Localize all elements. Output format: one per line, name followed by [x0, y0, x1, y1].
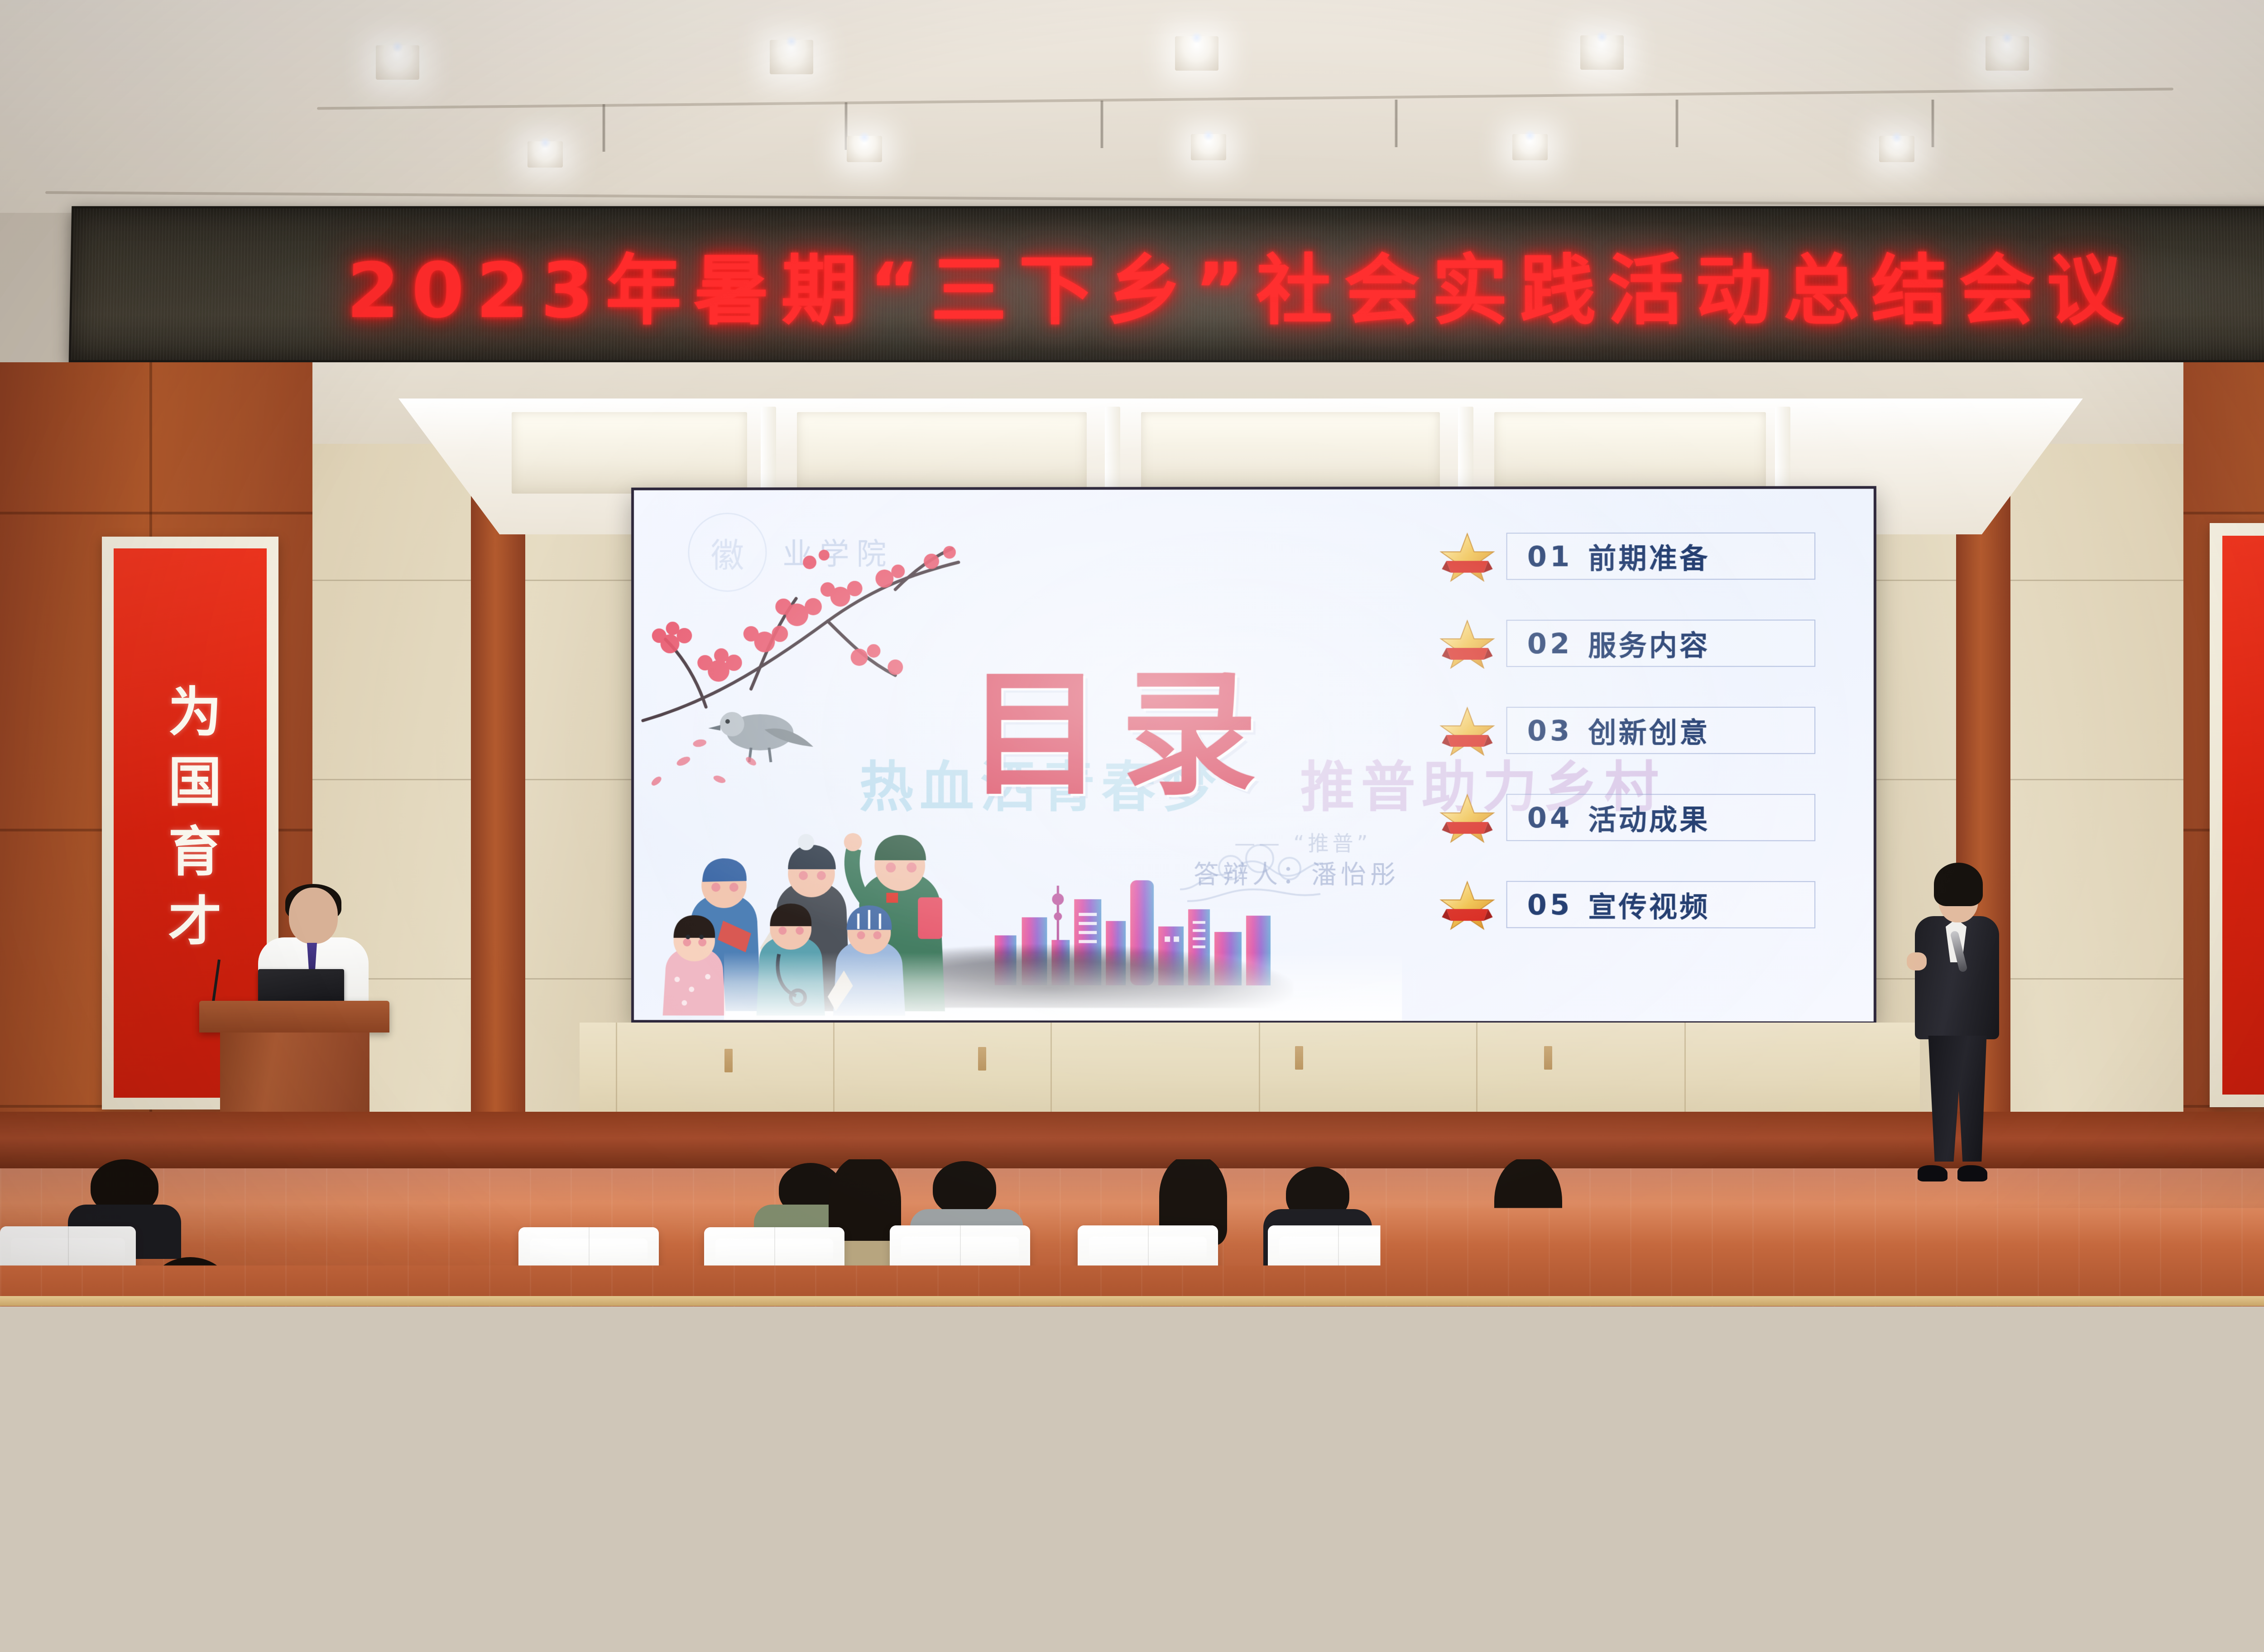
menu-item: 05 宣传视频 — [1438, 877, 1815, 932]
menu-item-number: 04 — [1527, 801, 1573, 834]
menu-item-box: 02 服务内容 — [1506, 619, 1816, 667]
menu-item-label: 创新创意 — [1588, 710, 1710, 751]
star-ribbon-icon — [1438, 879, 1496, 930]
stage-presenter — [1904, 863, 2008, 1184]
menu-item-label: 前期准备 — [1588, 536, 1710, 576]
audience-chair — [906, 1576, 1114, 1652]
audience-head — [430, 1531, 543, 1652]
mist-overlay — [724, 952, 1402, 1021]
menu-item: 01 前期准备 — [1438, 529, 1815, 584]
audience-head — [770, 1349, 851, 1420]
audience-head — [1363, 1340, 1444, 1458]
ceiling-spotlight — [1580, 35, 1624, 70]
audience-head — [18, 1540, 140, 1644]
audience-head — [149, 1426, 254, 1513]
ceiling-spotlight — [376, 45, 419, 80]
audience-head — [1820, 1344, 1902, 1466]
led-banner-text: 2023年暑期“三下乡”社会实践活动总结会议 — [346, 229, 2135, 339]
presentation-slide: 徽 业学院 — [634, 489, 1874, 1021]
star-ribbon-icon — [1438, 705, 1496, 756]
ceiling-spotlight — [847, 136, 882, 162]
presenter-hair — [1934, 863, 1983, 906]
audience-head — [1766, 1537, 1875, 1652]
ceiling-spotlight — [1175, 36, 1218, 71]
presenter-hand — [1907, 952, 1927, 970]
audience-head — [933, 1161, 996, 1215]
menu-item-label: 宣传视频 — [1588, 884, 1710, 925]
menu-item-box: 01 前期准备 — [1506, 533, 1816, 580]
menu-item-number: 01 — [1527, 540, 1573, 573]
audience-chair — [1893, 1580, 2101, 1652]
menu-item-box: 04 活动成果 — [1506, 794, 1816, 841]
audience-head — [335, 1266, 408, 1330]
audience-chair — [557, 1580, 752, 1652]
menu-item: 03 创新创意 — [1438, 703, 1815, 758]
left-banner-characters: 为国育才 — [162, 684, 218, 963]
bird-icon — [708, 712, 813, 762]
menu-item-number: 02 — [1527, 627, 1573, 660]
menu-item-number: 05 — [1527, 888, 1573, 921]
slide-contents-menu: 01 前期准备 02 服务内容 — [1438, 529, 1815, 965]
audience-seating — [0, 1159, 2264, 1652]
menu-item-number: 03 — [1527, 714, 1573, 747]
menu-item: 04 活动成果 — [1438, 790, 1815, 845]
led-scrolling-banner: 2023年暑期“三下乡”社会实践活动总结会议 — [69, 206, 2264, 362]
star-ribbon-icon — [1438, 531, 1496, 581]
audience-chair — [0, 1226, 136, 1344]
audience-chair — [1146, 1580, 1354, 1652]
audience-head — [996, 1422, 1094, 1506]
right-wall-banner: 为党育人 — [2210, 523, 2264, 1107]
star-ribbon-icon — [1438, 618, 1496, 669]
audience-head — [2029, 1431, 2119, 1567]
audience-head — [149, 1257, 231, 1325]
audience-head — [756, 1531, 869, 1635]
projection-screen: 徽 业学院 — [631, 486, 1876, 1024]
audience-head — [1114, 1340, 1195, 1455]
laptop — [258, 969, 344, 1004]
menu-item-label: 活动成果 — [1588, 797, 1710, 838]
audience-head — [1630, 1531, 1739, 1652]
audience-chair — [0, 1390, 158, 1535]
audience-head — [2164, 1531, 2264, 1652]
ceiling-spotlight — [770, 40, 813, 74]
menu-item-label: 服务内容 — [1588, 623, 1710, 663]
star-ribbon-icon — [1438, 792, 1496, 843]
audience-chair — [195, 1585, 403, 1652]
auditorium-photo: 2023年暑期“三下乡”社会实践活动总结会议 为国育才 为党育人 — [0, 0, 2264, 1652]
ceiling-spotlight — [1512, 134, 1548, 160]
slide-title: 目录 — [968, 666, 1275, 802]
ceiling-spotlight — [1879, 136, 1914, 162]
ceiling-spotlight — [528, 141, 563, 168]
ceiling — [0, 0, 2264, 213]
speaker-head — [289, 888, 338, 944]
ceiling-spotlight — [1191, 134, 1226, 160]
menu-item-box: 05 宣传视频 — [1506, 881, 1816, 928]
audience-shoulders — [539, 1494, 720, 1576]
ceiling-spotlight — [1986, 36, 2029, 71]
left-pillar — [471, 444, 525, 1168]
menu-item: 02 服务内容 — [1438, 616, 1815, 671]
menu-item-box: 03 创新创意 — [1506, 707, 1816, 754]
stage-back-panel-wall — [580, 1023, 1920, 1118]
audience-chair — [1395, 1580, 1603, 1652]
